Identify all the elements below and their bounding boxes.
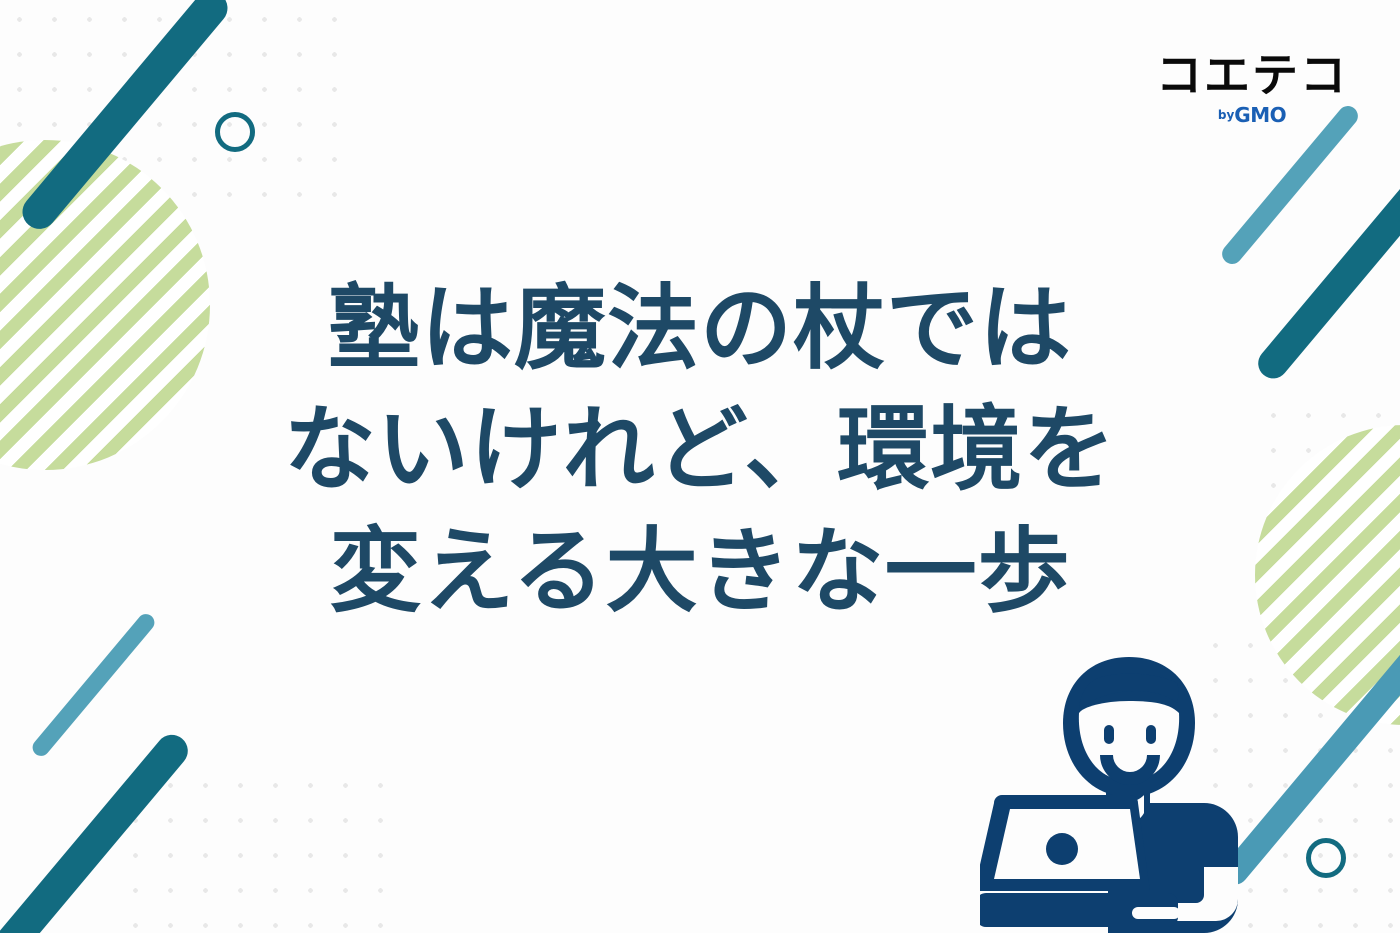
brand-logo: コエテコ byGMO (1156, 52, 1348, 125)
ring-top-left (215, 112, 255, 152)
ring-bottom-right (1306, 838, 1346, 878)
person-at-laptop-illustration (980, 655, 1270, 933)
diagonal-bar-bottom-left-light (29, 611, 158, 760)
logo-subtitle-brand: GMO (1234, 103, 1286, 127)
headline-line-3: 変える大きな一歩 (0, 511, 1400, 632)
headline-line-1: 塾は魔法の杖では (0, 268, 1400, 389)
headline-line-2: ないけれど、環境を (0, 389, 1400, 510)
logo-subtitle-prefix: by (1218, 108, 1234, 122)
page-title: 塾は魔法の杖では ないけれど、環境を 変える大きな一歩 (0, 268, 1400, 632)
person-at-laptop-icon (980, 655, 1270, 933)
logo-subtitle: byGMO (1156, 105, 1348, 125)
diagonal-bar-bottom-left-dark (0, 728, 194, 933)
logo-wordmark: コエテコ (1156, 52, 1348, 98)
banner-root: コエテコ byGMO 塾は魔法の杖では ないけれど、環境を 変える大きな一歩 (0, 0, 1400, 933)
